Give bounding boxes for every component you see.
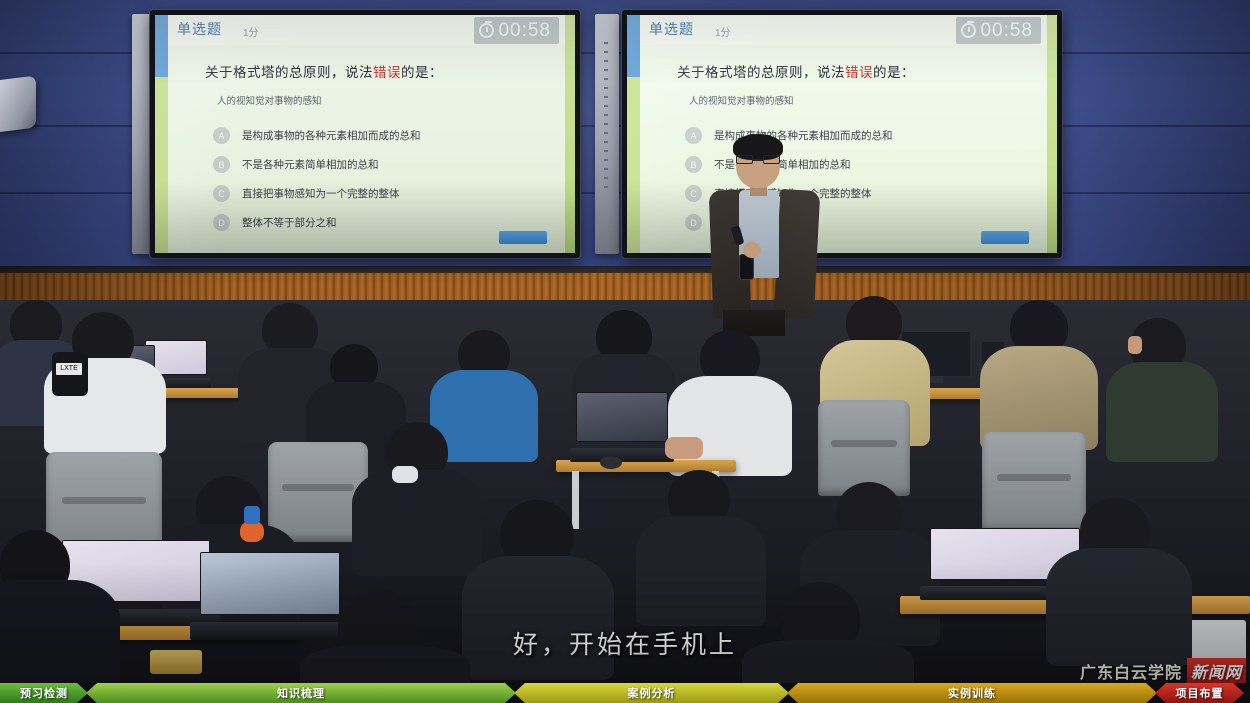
student-body	[352, 470, 482, 576]
student-body	[462, 556, 614, 680]
question-title-pre-2: 关于格式塔的总原则，说法	[677, 65, 845, 80]
option-row-a: A 是构成事物的各种元素相加而成的总和	[213, 127, 421, 144]
nav-item-project-assignment[interactable]: 项目布置	[1155, 683, 1244, 703]
option-row-d: D 整体不等于部分之和	[213, 214, 337, 231]
option-bubble-d-2: D	[685, 214, 702, 231]
nav-item-knowledge-review[interactable]: 知识梳理	[86, 683, 516, 703]
question-title-2: 关于格式塔的总原则，说法错误的是：	[677, 61, 915, 81]
option-bubble-b: B	[213, 156, 230, 173]
stopwatch-icon	[479, 23, 494, 38]
option-text-a: 是构成事物的各种元素相加而成的总和	[242, 128, 421, 143]
student-hand	[665, 437, 703, 459]
countdown-timer-2: 00:58	[956, 17, 1041, 44]
backpack-logo: LXTE	[56, 363, 82, 375]
option-bubble-b-2: B	[685, 156, 702, 173]
question-type-label-2: 单选题	[649, 19, 694, 39]
question-subtext-2: 人的视知觉对事物的感知	[689, 93, 794, 107]
video-frame: 单选题 1分 00:58 关于格式塔的总原则，说法错误的是： 人的视知觉对事物的…	[0, 0, 1250, 703]
question-score-label-2: 1分	[715, 24, 731, 39]
timer-value: 00:58	[498, 20, 551, 42]
question-score-label: 1分	[243, 24, 259, 39]
submit-button	[499, 231, 547, 244]
quiz-slide-left: 单选题 1分 00:58 关于格式塔的总原则，说法错误的是： 人的视知觉对事物的…	[155, 15, 575, 253]
question-subtext: 人的视知觉对事物的感知	[217, 93, 322, 107]
timer-value-2: 00:58	[980, 20, 1033, 42]
option-bubble-d: D	[213, 214, 230, 231]
question-title-highlight-2: 错误	[845, 65, 873, 80]
watermark-badge: 新闻网	[1187, 658, 1246, 684]
wall-control-panel-left	[132, 14, 152, 254]
presenter-hand	[743, 242, 761, 258]
option-row-b: B 不是各种元素简单相加的总和	[213, 156, 379, 173]
slide-left-accent-bar	[155, 15, 168, 253]
display-screen-right: 单选题 1分 00:58 关于格式塔的总原则，说法错误的是： 人的视知觉对事物的…	[622, 10, 1062, 258]
option-bubble-c-2: C	[685, 185, 702, 202]
option-row-c: C 直接把事物感知为一个完整的整体	[213, 185, 400, 202]
student-body	[636, 516, 766, 626]
laptop-middle	[576, 392, 668, 462]
lesson-progress-nav[interactable]: 预习检测 知识梳理 案例分析 实例训练 项目布置	[0, 683, 1250, 703]
option-text-b: 不是各种元素简单相加的总和	[242, 157, 379, 172]
wall-speaker	[0, 76, 36, 133]
submit-button-2	[981, 231, 1029, 244]
question-type-label: 单选题	[177, 19, 222, 39]
channel-watermark: 广东白云学院 新闻网	[1080, 658, 1246, 684]
student-body-green	[1106, 362, 1218, 462]
chair	[982, 432, 1086, 532]
watermark-institution: 广东白云学院	[1080, 659, 1182, 683]
question-title-post: 的是：	[401, 65, 443, 80]
question-title: 关于格式塔的总原则，说法错误的是：	[205, 61, 443, 81]
nav-item-case-analysis[interactable]: 案例分析	[514, 683, 789, 703]
bottle-cap	[244, 506, 260, 524]
nav-item-preview-check[interactable]: 预习检测	[0, 683, 88, 703]
countdown-timer: 00:58	[474, 17, 559, 44]
option-text-d: 整体不等于部分之和	[242, 215, 337, 230]
slide-left-accent-bar-2	[627, 15, 640, 253]
nav-item-practice-training[interactable]: 实例训练	[787, 683, 1157, 703]
question-title-post-2: 的是：	[873, 65, 915, 80]
mouse	[600, 456, 622, 469]
hand-raised	[1128, 336, 1142, 354]
question-title-pre: 关于格式塔的总原则，说法	[205, 65, 373, 80]
display-screen-left: 单选题 1分 00:58 关于格式塔的总原则，说法错误的是： 人的视知觉对事物的…	[150, 10, 580, 258]
option-bubble-a: A	[213, 127, 230, 144]
slide-right-accent-bar	[565, 15, 575, 253]
stopwatch-icon-2	[961, 23, 976, 38]
option-bubble-c: C	[213, 185, 230, 202]
slide-right-accent-bar-2	[1047, 15, 1057, 253]
quiz-slide-right: 单选题 1分 00:58 关于格式塔的总原则，说法错误的是： 人的视知觉对事物的…	[627, 15, 1057, 253]
option-bubble-a-2: A	[685, 127, 702, 144]
glasses-icon	[736, 155, 780, 164]
option-text-c: 直接把事物感知为一个完整的整体	[242, 186, 400, 201]
subtitle-caption: 好，开始在手机上	[0, 625, 1250, 661]
wall-control-panel-center	[595, 14, 619, 254]
question-title-highlight: 错误	[373, 65, 401, 80]
presenter	[703, 138, 821, 318]
face-mask	[392, 466, 418, 483]
presenter-jacket-right	[774, 189, 821, 319]
